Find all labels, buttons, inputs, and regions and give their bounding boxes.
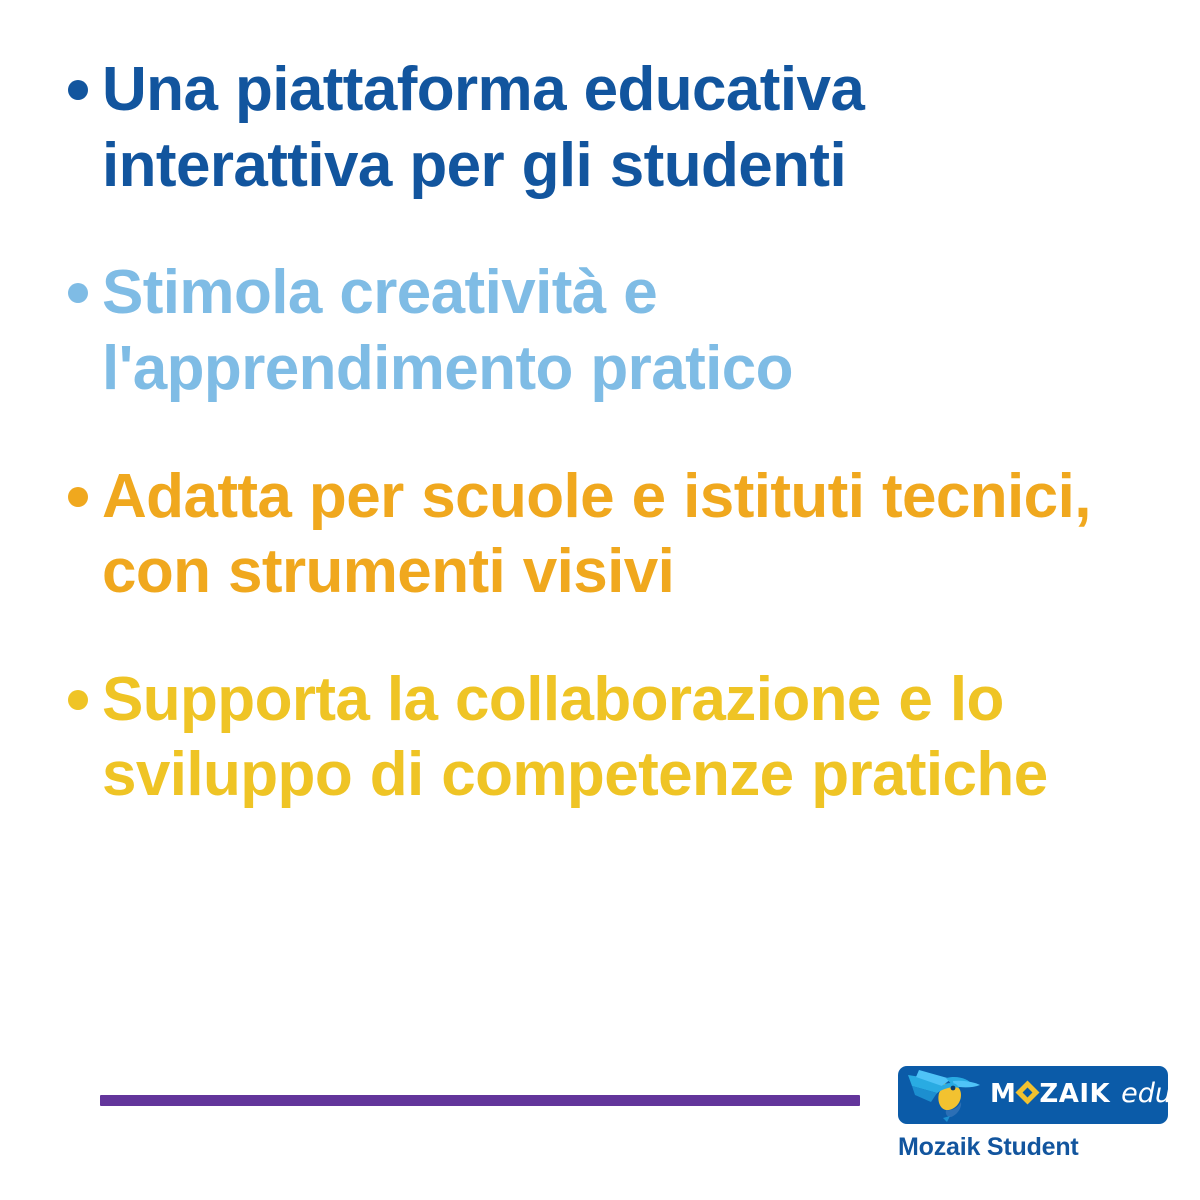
brand-caption: Mozaik Student [898,1133,1170,1162]
footer-divider [100,1095,860,1106]
list-item: Una piattaforma educativa interattiva pe… [0,52,1110,203]
brand-block: M ZAIK education Mozaik Student [898,1066,1170,1162]
wordmark-education: education [1121,1080,1168,1107]
bullet-dot-icon [68,283,88,303]
hummingbird-icon [906,1068,988,1122]
bullet-text: Supporta la collaborazione e lo sviluppo… [102,662,1110,813]
bullet-dot-icon [68,487,88,507]
wordmark-m: M [990,1081,1016,1107]
slide-root: Una piattaforma educativa interattiva pe… [0,0,1200,1200]
list-item: Stimola creatività e l'apprendimento pra… [0,255,1110,406]
wordmark-zaik: ZAIK [1039,1081,1110,1107]
bullet-list: Una piattaforma educativa interattiva pe… [0,52,1110,865]
mozaik-wordmark: M ZAIK education [990,1080,1168,1107]
diamond-o-icon [1016,1080,1040,1104]
list-item: Adatta per scuole e istituti tecnici, co… [0,459,1110,610]
bullet-dot-icon [68,690,88,710]
bullet-text: Una piattaforma educativa interattiva pe… [102,52,1110,203]
list-item: Supporta la collaborazione e lo sviluppo… [0,662,1110,813]
bullet-dot-icon [68,80,88,100]
mozaik-education-logo: M ZAIK education [898,1066,1168,1124]
bullet-text: Adatta per scuole e istituti tecnici, co… [102,459,1110,610]
bullet-text: Stimola creatività e l'apprendimento pra… [102,255,1110,406]
